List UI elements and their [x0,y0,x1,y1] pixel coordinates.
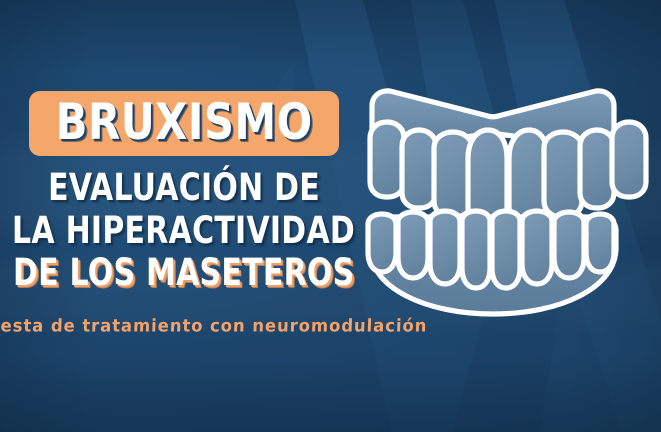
title-badge: BRUXISMO [29,91,339,156]
tagline: Propuesta de tratamiento con neuromodula… [0,315,428,335]
page-title: BRUXISMO [56,98,313,147]
headline-line-2: LA HIPERACTIVIDAD [12,210,355,251]
headline-line-1: EVALUACIÓN DE [48,167,320,208]
teeth-dental-arches-icon [360,72,626,322]
headline-line-3: DE LOS MASETEROS [13,252,355,293]
text-content-block: BRUXISMO EVALUACIÓN DE LA HIPERACTIVIDAD… [0,0,368,432]
poster-root: BRUXISMO EVALUACIÓN DE LA HIPERACTIVIDAD… [0,0,661,432]
